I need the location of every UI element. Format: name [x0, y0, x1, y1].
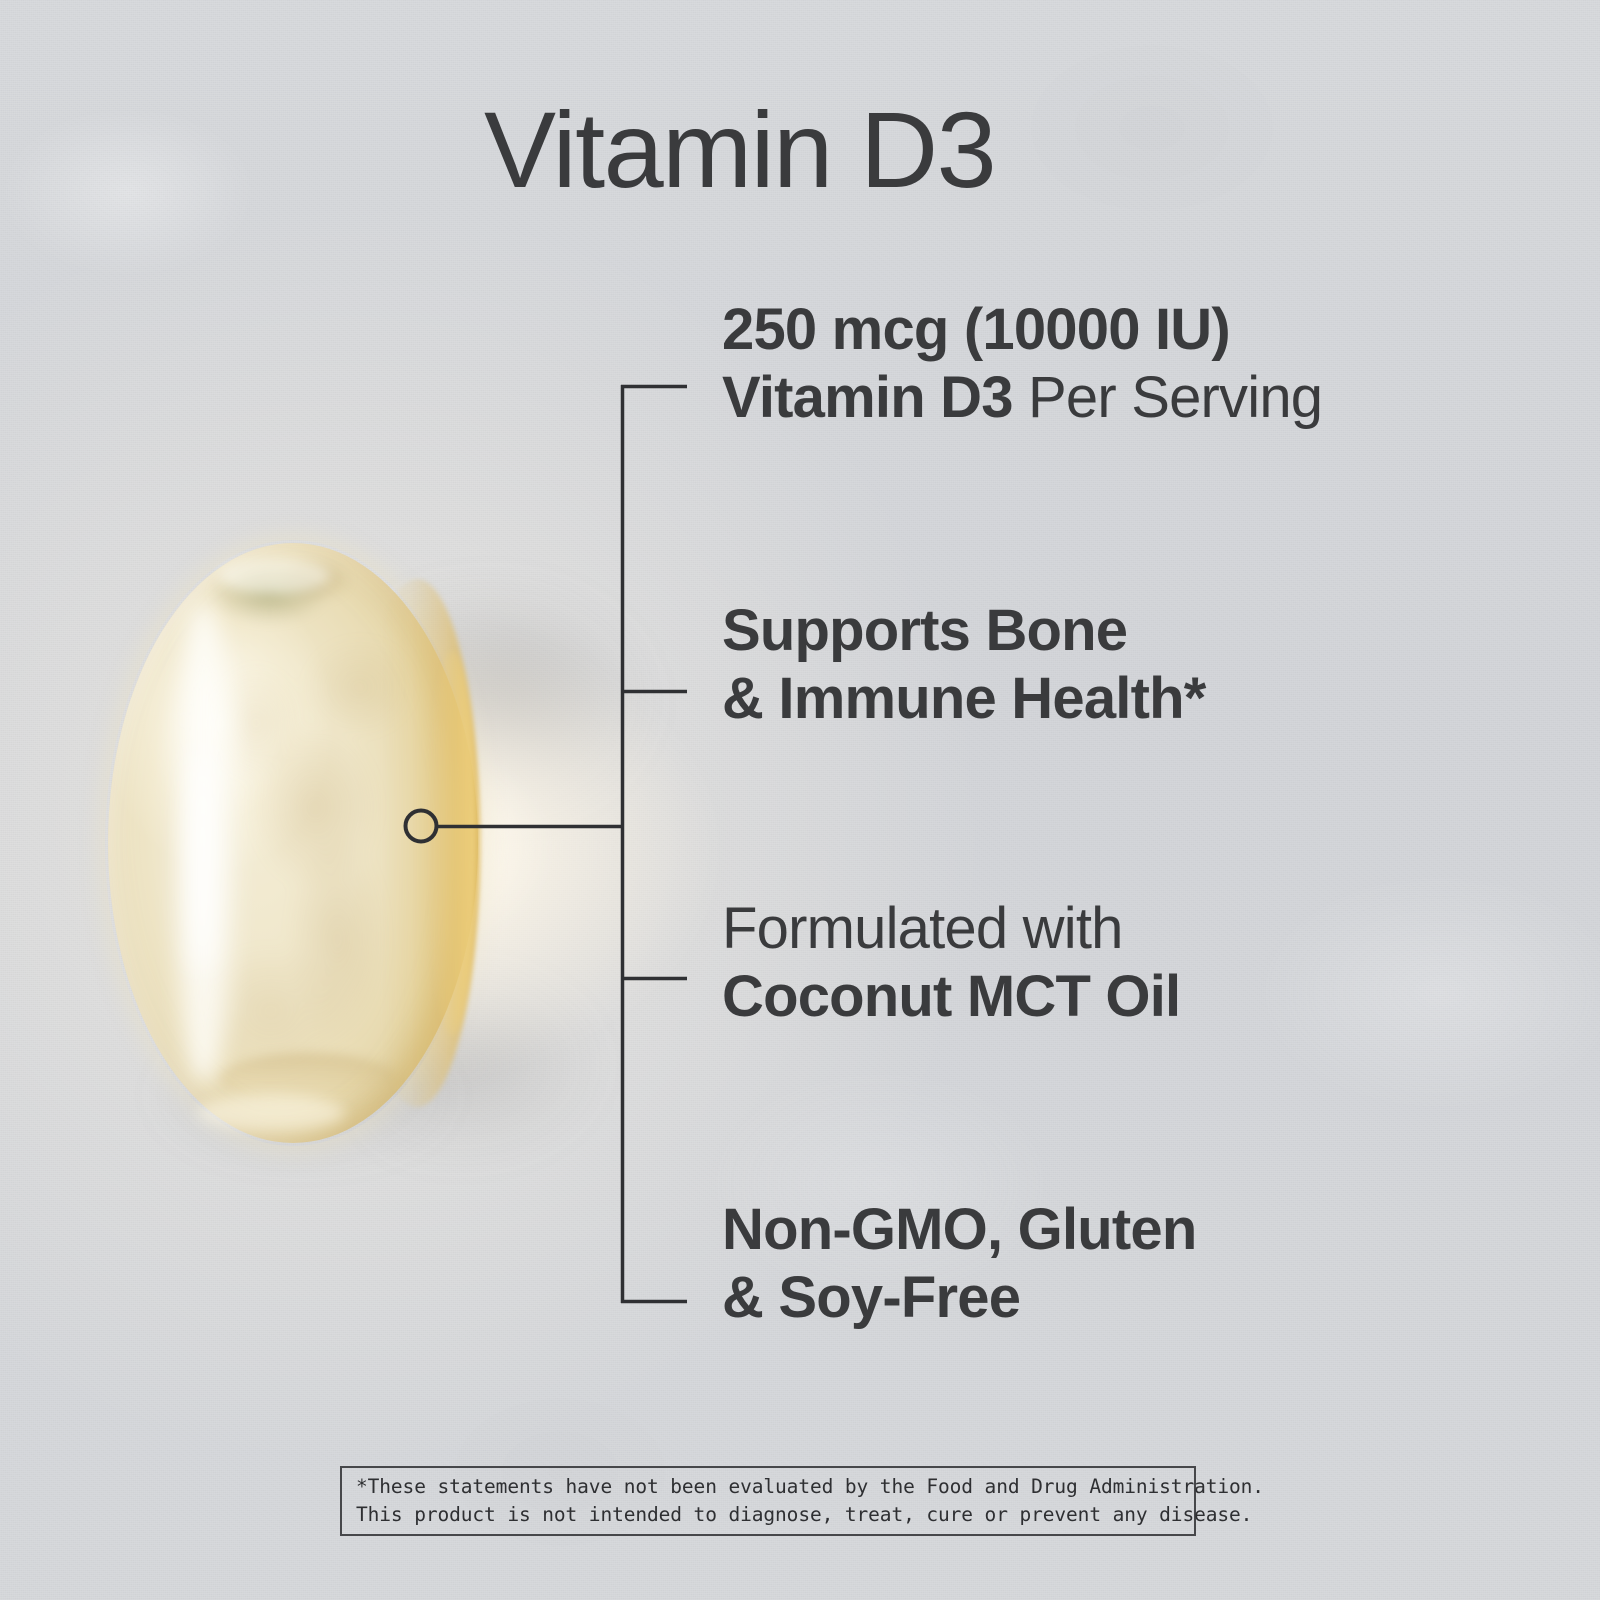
feature-formulation: Formulated with Coconut MCT Oil	[722, 895, 1180, 1032]
fda-disclaimer-line2: This product is not intended to diagnose…	[356, 1501, 1180, 1529]
feature-benefits-line2: & Immune Health*	[722, 665, 1206, 733]
feature-free-from: Non-GMO, Gluten & Soy-Free	[722, 1196, 1197, 1333]
feature-free-from-line1: Non-GMO, Gluten	[722, 1196, 1197, 1264]
infographic-canvas: Vitamin D3 250 mcg (10000 IU) Vitamin D3…	[0, 0, 1600, 1600]
page-title: Vitamin D3	[484, 95, 995, 205]
feature-free-from-line2: & Soy-Free	[722, 1264, 1197, 1332]
feature-dosage-line2: Vitamin D3 Per Serving	[722, 364, 1322, 432]
feature-benefits: Supports Bone & Immune Health*	[722, 597, 1206, 734]
feature-formulation-line1: Formulated with	[722, 895, 1180, 963]
feature-dosage: 250 mcg (10000 IU) Vitamin D3 Per Servin…	[722, 296, 1322, 433]
fda-disclaimer-line1: *These statements have not been evaluate…	[356, 1473, 1180, 1501]
feature-dosage-line1: 250 mcg (10000 IU)	[722, 296, 1322, 364]
feature-formulation-line2: Coconut MCT Oil	[722, 963, 1180, 1031]
feature-benefits-line1: Supports Bone	[722, 597, 1206, 665]
fda-disclaimer-box: *These statements have not been evaluate…	[340, 1466, 1196, 1536]
background-paper-texture	[0, 0, 1600, 1600]
